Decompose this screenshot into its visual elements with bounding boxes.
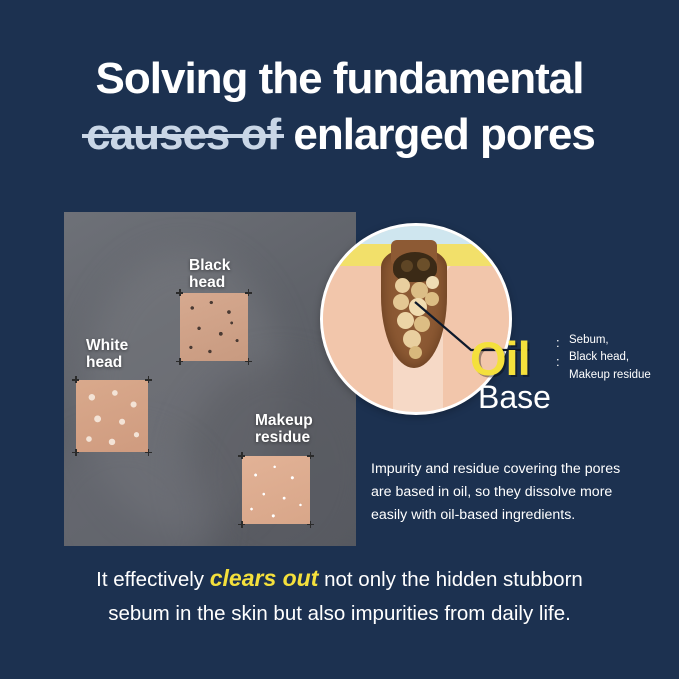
- sebum-globule: [397, 312, 414, 329]
- label-makeup-residue: Makeup residue: [255, 412, 313, 447]
- description-paragraph: Impurity and residue covering the pores …: [371, 458, 661, 527]
- sebum-globule: [401, 260, 413, 272]
- sebum-globule: [393, 294, 409, 310]
- headline-line-2: causes of enlarged pores: [0, 108, 679, 162]
- callout-colon-2: :: [556, 353, 560, 372]
- label-white-head: White head: [86, 337, 128, 372]
- label-white-head-line2: head: [86, 354, 122, 371]
- label-makeup-residue-line2: residue: [255, 429, 310, 446]
- bottom-statement-line-2: sebum in the skin but also impurities fr…: [0, 597, 679, 630]
- label-white-head-line1: White: [86, 337, 128, 354]
- bottom-pre-text: It effectively: [96, 568, 204, 591]
- base-keyword: Base: [478, 381, 551, 413]
- bottom-statement-line-1: It effectively clears out not only the h…: [0, 560, 679, 597]
- label-black-head-line2: head: [189, 274, 225, 291]
- label-black-head: Black head: [189, 257, 230, 292]
- sebum-globule: [426, 276, 439, 289]
- callout-colons: : :: [556, 334, 560, 372]
- description-line-3: easily with oil-based ingredients.: [371, 504, 661, 527]
- headline-line-1: Solving the fundamental: [0, 52, 679, 106]
- skin-photo-panel: Black head White head Makeup residue: [64, 212, 356, 546]
- description-line-1: Impurity and residue covering the pores: [371, 458, 661, 481]
- blackhead-swatch: [180, 293, 248, 361]
- label-makeup-residue-line1: Makeup: [255, 412, 313, 429]
- headline-strikethrough-text: causes of: [84, 108, 282, 162]
- bottom-highlight-text: clears out: [210, 565, 319, 591]
- oil-component-list: Sebum, Black head, Makeup residue: [569, 332, 651, 384]
- oil-keyword: Oil: [470, 335, 530, 382]
- poster-root: Solving the fundamental causes of enlarg…: [0, 0, 679, 679]
- bottom-post-text: not only the hidden stubborn: [324, 568, 583, 591]
- oil-component-item: Sebum,: [569, 332, 651, 349]
- bottom-statement: It effectively clears out not only the h…: [0, 560, 679, 630]
- oil-component-item: Makeup residue: [569, 367, 651, 384]
- whitehead-swatch: [76, 380, 148, 452]
- sebum-globule: [417, 258, 430, 271]
- description-line-2: are based in oil, so they dissolve more: [371, 481, 661, 504]
- callout-colon-1: :: [556, 334, 560, 353]
- sebum-globule: [395, 278, 410, 293]
- label-black-head-line1: Black: [189, 257, 230, 274]
- headline-line-2-rest: enlarged pores: [293, 110, 594, 159]
- makeup-residue-swatch: [242, 456, 310, 524]
- page-title: Solving the fundamental causes of enlarg…: [0, 52, 679, 161]
- oil-component-item: Black head,: [569, 349, 651, 366]
